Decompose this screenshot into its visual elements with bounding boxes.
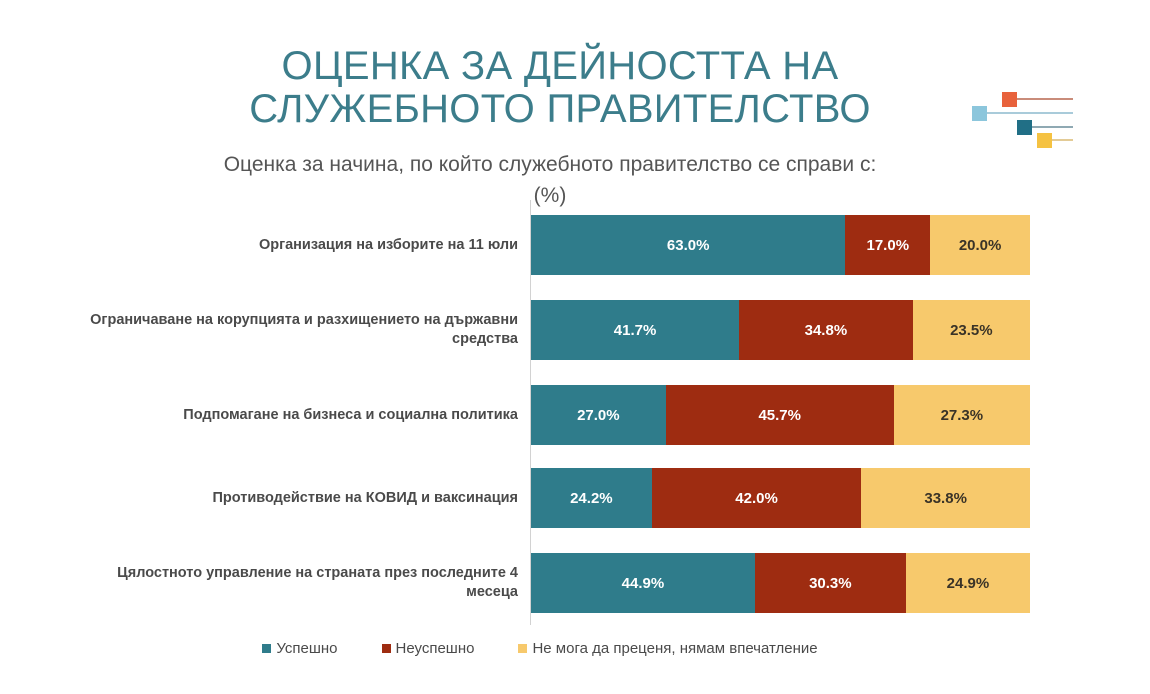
bar-value-label: 42.0% bbox=[735, 490, 778, 507]
bar-value-label: 20.0% bbox=[959, 237, 1002, 254]
category-label: Подпомагане на бизнеса и социална полити… bbox=[40, 406, 524, 425]
stacked-bar: 44.9%30.3%24.9% bbox=[531, 553, 1030, 613]
logo-square-3 bbox=[1037, 133, 1052, 148]
bar-segment-no-opinion: 23.5% bbox=[913, 300, 1030, 360]
logo-square-0 bbox=[1002, 92, 1017, 107]
chart-row: Организация на изборите на 11 юли63.0%17… bbox=[40, 215, 1040, 275]
legend-label: Успешно bbox=[276, 640, 337, 657]
chart-row: Подпомагане на бизнеса и социална полити… bbox=[40, 385, 1040, 445]
bar-value-label: 17.0% bbox=[867, 237, 910, 254]
category-label: Цялостното управление на страната през п… bbox=[40, 564, 524, 602]
bar-value-label: 45.7% bbox=[758, 407, 801, 424]
bar-segment-unsuccessful: 17.0% bbox=[845, 215, 930, 275]
logo-line-3 bbox=[1052, 139, 1073, 141]
bar-value-label: 24.9% bbox=[947, 575, 990, 592]
bar-value-label: 27.3% bbox=[941, 407, 984, 424]
legend-swatch-icon bbox=[518, 644, 527, 653]
bar-segment-successful: 63.0% bbox=[531, 215, 845, 275]
bar-segment-no-opinion: 20.0% bbox=[930, 215, 1030, 275]
stacked-bar: 27.0%45.7%27.3% bbox=[531, 385, 1030, 445]
bar-segment-no-opinion: 27.3% bbox=[894, 385, 1030, 445]
stacked-bar: 63.0%17.0%20.0% bbox=[531, 215, 1030, 275]
stacked-bar: 41.7%34.8%23.5% bbox=[531, 300, 1030, 360]
slider-bars-logo-icon bbox=[968, 88, 1076, 148]
bar-segment-successful: 41.7% bbox=[531, 300, 739, 360]
logo-square-2 bbox=[1017, 120, 1032, 135]
legend-item[interactable]: Успешно bbox=[262, 640, 337, 657]
bar-segment-unsuccessful: 30.3% bbox=[755, 553, 906, 613]
logo-square-1 bbox=[972, 106, 987, 121]
category-label: Ограничаване на корупцията и разхищениет… bbox=[40, 311, 524, 349]
bar-value-label: 24.2% bbox=[570, 490, 613, 507]
bar-segment-successful: 24.2% bbox=[531, 468, 652, 528]
brand-logo bbox=[968, 88, 1076, 148]
stacked-bar: 24.2%42.0%33.8% bbox=[531, 468, 1030, 528]
legend-item[interactable]: Не мога да преценя, нямам впечатление bbox=[518, 640, 817, 657]
bar-segment-successful: 27.0% bbox=[531, 385, 666, 445]
bar-value-label: 44.9% bbox=[622, 575, 665, 592]
legend-swatch-icon bbox=[262, 644, 271, 653]
bar-value-label: 33.8% bbox=[924, 490, 967, 507]
chart-legend: УспешноНеуспешноНе мога да преценя, няма… bbox=[40, 640, 1040, 657]
bar-value-label: 41.7% bbox=[614, 322, 657, 339]
legend-label: Не мога да преценя, нямам впечатление bbox=[532, 640, 817, 657]
page-title: ОЦЕНКА ЗА ДЕЙНОСТТА НА СЛУЖЕБНОТО ПРАВИТ… bbox=[150, 45, 970, 131]
bar-segment-no-opinion: 24.9% bbox=[906, 553, 1030, 613]
logo-line-0 bbox=[1017, 98, 1073, 100]
chart-row: Цялостното управление на страната през п… bbox=[40, 553, 1040, 613]
bar-segment-successful: 44.9% bbox=[531, 553, 755, 613]
bar-value-label: 27.0% bbox=[577, 407, 620, 424]
bar-value-label: 34.8% bbox=[805, 322, 848, 339]
bar-segment-no-opinion: 33.8% bbox=[861, 468, 1030, 528]
legend-item[interactable]: Неуспешно bbox=[382, 640, 475, 657]
legend-swatch-icon bbox=[382, 644, 391, 653]
chart-plot-area: Организация на изборите на 11 юли63.0%17… bbox=[40, 200, 1040, 625]
chart-row: Противодействие на КОВИД и ваксинация24.… bbox=[40, 468, 1040, 528]
category-label: Противодействие на КОВИД и ваксинация bbox=[40, 489, 524, 508]
category-label: Организация на изборите на 11 юли bbox=[40, 236, 524, 255]
bar-segment-unsuccessful: 42.0% bbox=[652, 468, 862, 528]
bar-value-label: 63.0% bbox=[667, 237, 710, 254]
legend-label: Неуспешно bbox=[396, 640, 475, 657]
chart-row: Ограничаване на корупцията и разхищениет… bbox=[40, 300, 1040, 360]
logo-line-1 bbox=[987, 112, 1073, 114]
logo-line-2 bbox=[1032, 126, 1073, 128]
bar-value-label: 23.5% bbox=[950, 322, 993, 339]
bar-value-label: 30.3% bbox=[809, 575, 852, 592]
bar-segment-unsuccessful: 34.8% bbox=[739, 300, 913, 360]
bar-segment-unsuccessful: 45.7% bbox=[666, 385, 894, 445]
